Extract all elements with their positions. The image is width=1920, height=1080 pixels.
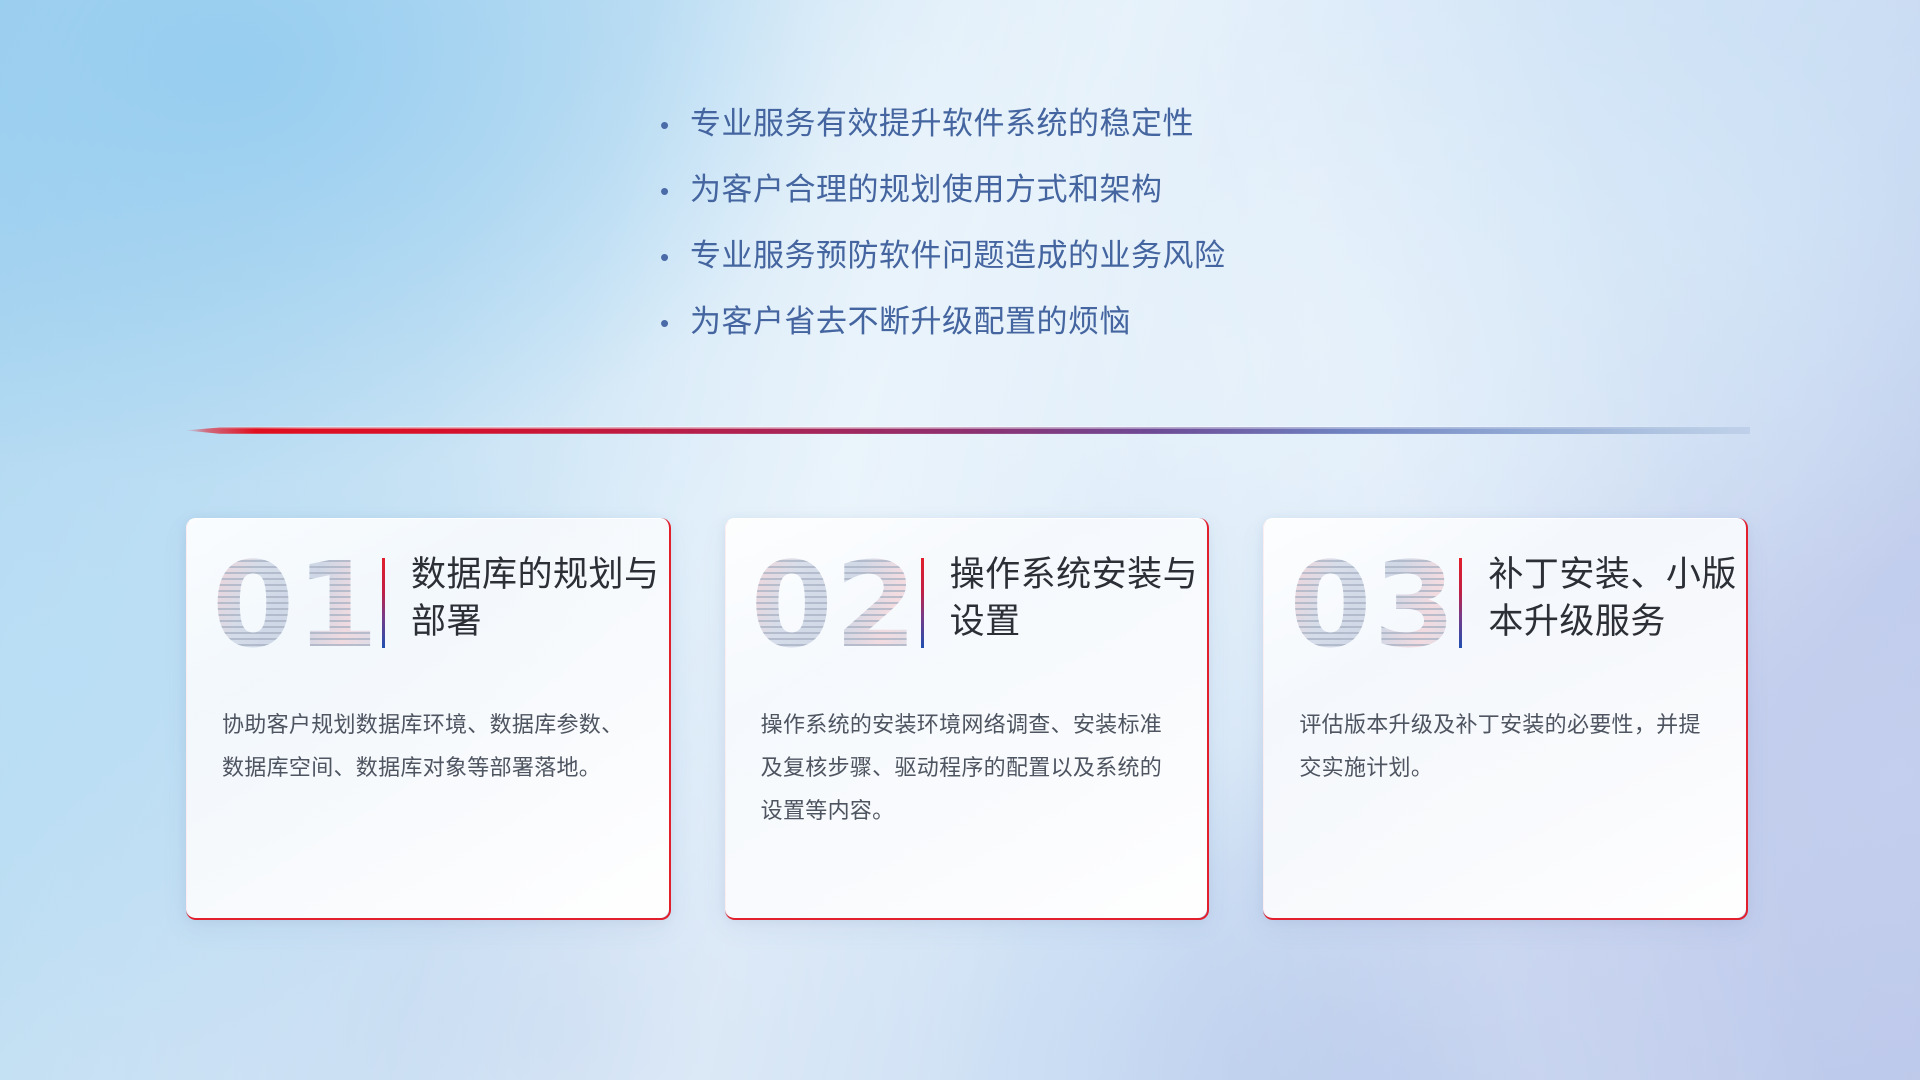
title-accent-rule	[1459, 558, 1462, 648]
section-divider	[185, 424, 1750, 438]
card-index-number: 01	[212, 546, 380, 664]
benefits-bullet-list: • 专业服务有效提升软件系统的稳定性 • 为客户合理的规划使用方式和架构 • 专…	[660, 103, 1480, 368]
card-title-block: 数据库的规划与部署	[382, 552, 669, 648]
list-item: • 专业服务预防软件问题造成的业务风险	[660, 235, 1480, 277]
card-header: 03 补丁安装、小版本升级服务	[1263, 518, 1746, 704]
list-item: • 为客户省去不断升级配置的烦恼	[660, 301, 1480, 343]
divider-highlight	[185, 426, 1750, 429]
bullet-marker-icon: •	[660, 310, 690, 336]
title-accent-rule	[382, 558, 385, 648]
service-card-01[interactable]: 01 数据库的规划与部署 协助客户规划数据库环境、数据库参数、数据库空间、数据库…	[186, 518, 669, 918]
card-title: 补丁安装、小版本升级服务	[1488, 552, 1746, 646]
list-item: • 专业服务有效提升软件系统的稳定性	[660, 103, 1480, 145]
bullet-marker-icon: •	[660, 244, 690, 270]
bullet-text: 为客户合理的规划使用方式和架构	[690, 169, 1163, 211]
card-title: 操作系统安装与设置	[950, 552, 1208, 646]
card-title-block: 操作系统安装与设置	[921, 552, 1208, 648]
card-title-block: 补丁安装、小版本升级服务	[1459, 552, 1746, 648]
card-description: 操作系统的安装环境网络调查、安装标准及复核步骤、驱动程序的配置以及系统的设置等内…	[725, 704, 1208, 833]
card-description: 协助客户规划数据库环境、数据库参数、数据库空间、数据库对象等部署落地。	[186, 704, 669, 790]
card-header: 01 数据库的规划与部署	[186, 518, 669, 704]
service-card-group: 01 数据库的规划与部署 协助客户规划数据库环境、数据库参数、数据库空间、数据库…	[186, 518, 1746, 918]
title-accent-rule	[921, 558, 924, 648]
bullet-text: 专业服务预防软件问题造成的业务风险	[690, 235, 1226, 277]
bullet-marker-icon: •	[660, 112, 690, 138]
list-item: • 为客户合理的规划使用方式和架构	[660, 169, 1480, 211]
bullet-text: 为客户省去不断升级配置的烦恼	[690, 301, 1131, 343]
service-card-03[interactable]: 03 补丁安装、小版本升级服务 评估版本升级及补丁安装的必要性，并提交实施计划。	[1263, 518, 1746, 918]
bullet-marker-icon: •	[660, 178, 690, 204]
card-index-number: 03	[1289, 546, 1457, 664]
card-index-number: 02	[751, 546, 919, 664]
service-card-02[interactable]: 02 操作系统安装与设置 操作系统的安装环境网络调查、安装标准及复核步骤、驱动程…	[725, 518, 1208, 918]
card-description: 评估版本升级及补丁安装的必要性，并提交实施计划。	[1263, 704, 1746, 790]
bullet-text: 专业服务有效提升软件系统的稳定性	[690, 103, 1194, 145]
card-header: 02 操作系统安装与设置	[725, 518, 1208, 704]
slide-canvas: • 专业服务有效提升软件系统的稳定性 • 为客户合理的规划使用方式和架构 • 专…	[0, 0, 1920, 1080]
card-title: 数据库的规划与部署	[411, 552, 669, 646]
